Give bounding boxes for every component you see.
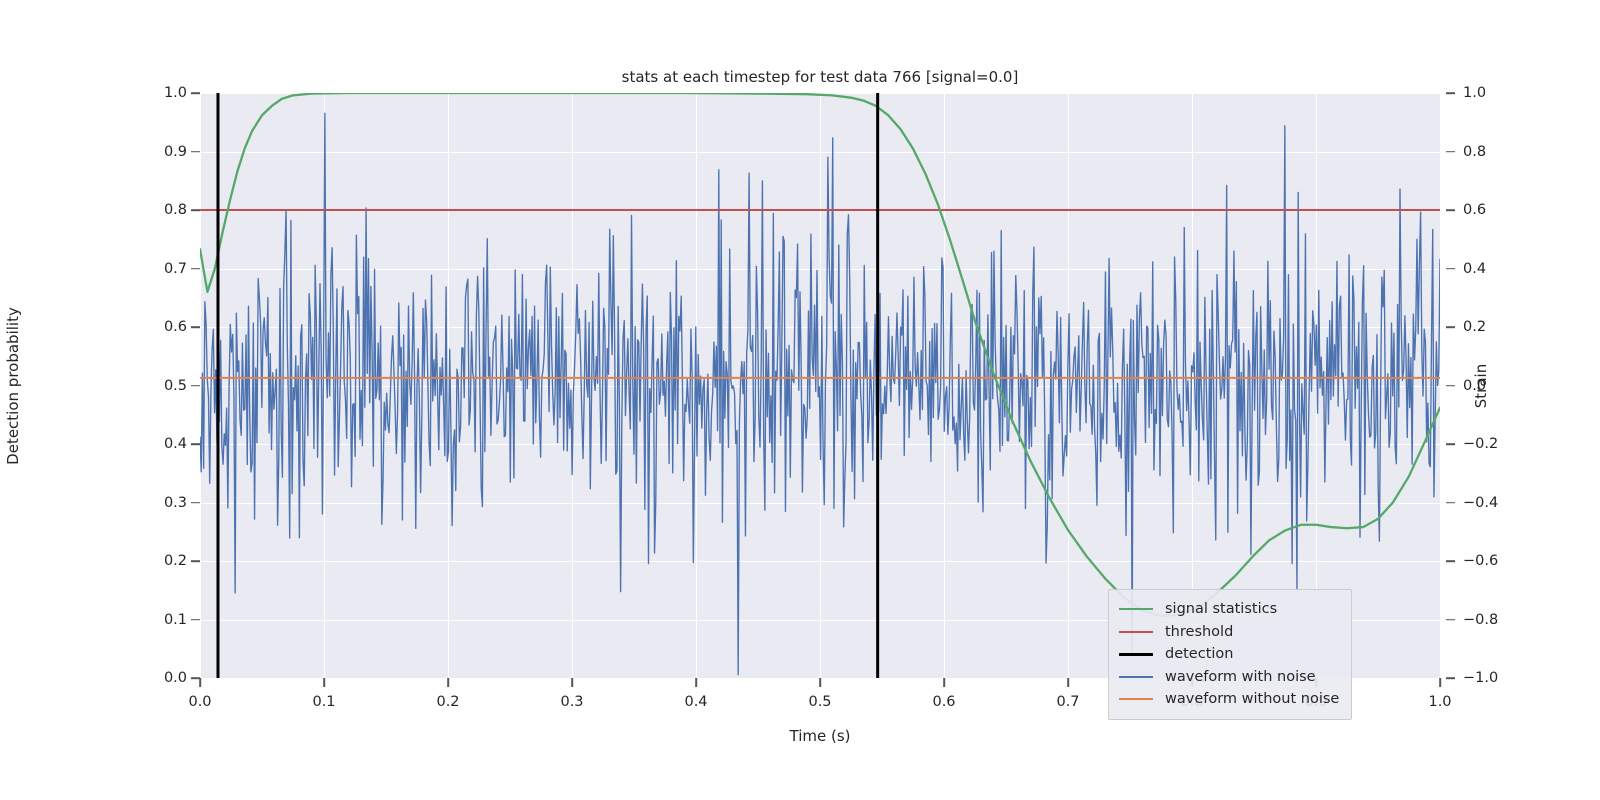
x-axis-tick-mark bbox=[1067, 678, 1069, 687]
y-axis-left-tick-mark bbox=[191, 326, 200, 328]
x-axis-tick-label: 0.2 bbox=[436, 694, 459, 710]
y-axis-right-tick-mark bbox=[1446, 209, 1455, 211]
legend-item-label: signal statistics bbox=[1165, 601, 1277, 617]
x-axis-tick-label: 0.7 bbox=[1056, 694, 1079, 710]
y-axis-left-tick-label: 0.1 bbox=[164, 612, 187, 628]
y-axis-left-tick-mark bbox=[191, 151, 200, 153]
x-axis-tick-mark bbox=[323, 678, 325, 687]
x-axis-tick-mark bbox=[943, 678, 945, 687]
x-axis-tick-label: 0.1 bbox=[312, 694, 335, 710]
legend-item[interactable]: waveform with noise bbox=[1119, 666, 1339, 689]
y-axis-left-tick-label: 0.7 bbox=[164, 261, 187, 277]
x-axis-tick-label: 0.4 bbox=[684, 694, 707, 710]
y-axis-right-label: Strain bbox=[1468, 93, 1494, 678]
y-axis-right-tick-mark bbox=[1446, 92, 1455, 94]
x-axis-tick-mark bbox=[695, 678, 697, 687]
x-axis-label: Time (s) bbox=[200, 727, 1440, 745]
legend-item[interactable]: detection bbox=[1119, 643, 1339, 666]
legend-item[interactable]: signal statistics bbox=[1119, 598, 1339, 621]
legend-swatch-line-icon bbox=[1119, 676, 1153, 678]
legend-item[interactable]: waveform without noise bbox=[1119, 688, 1339, 711]
y-axis-right-tick-mark bbox=[1446, 502, 1455, 504]
y-axis-right-tick-mark bbox=[1446, 560, 1455, 562]
y-axis-left: 0.00.10.20.30.40.50.60.70.80.91.0 bbox=[0, 93, 200, 678]
y-axis-right-tick-mark bbox=[1446, 151, 1455, 153]
y-axis-left-tick-label: 0.0 bbox=[164, 670, 187, 686]
y-axis-left-tick-label: 1.0 bbox=[164, 85, 187, 101]
y-axis-left-tick-mark bbox=[191, 268, 200, 270]
x-axis-tick-label: 0.5 bbox=[808, 694, 831, 710]
y-axis-left-tick-mark bbox=[191, 92, 200, 94]
y-axis-left-tick-mark bbox=[191, 502, 200, 504]
x-axis-tick-label: 0.3 bbox=[560, 694, 583, 710]
legend-item-label: waveform without noise bbox=[1165, 691, 1339, 707]
y-axis-left-tick-mark bbox=[191, 443, 200, 445]
x-axis-tick-label: 0.0 bbox=[188, 694, 211, 710]
legend-swatch-line-icon bbox=[1119, 631, 1153, 633]
y-axis-left-tick-mark bbox=[191, 560, 200, 562]
legend-item-label: detection bbox=[1165, 646, 1233, 662]
legend-item-label: waveform with noise bbox=[1165, 669, 1316, 685]
x-axis-tick-mark bbox=[819, 678, 821, 687]
y-axis-left-tick-label: 0.4 bbox=[164, 436, 187, 452]
y-axis-left-tick-label: 0.6 bbox=[164, 319, 187, 335]
legend-item-label: threshold bbox=[1165, 624, 1233, 640]
y-axis-right-tick-mark bbox=[1446, 619, 1455, 621]
legend-swatch-line-icon bbox=[1119, 653, 1153, 656]
y-axis-left-tick-mark bbox=[191, 619, 200, 621]
y-axis-left-tick-label: 0.8 bbox=[164, 202, 187, 218]
y-axis-left-tick-label: 0.2 bbox=[164, 553, 187, 569]
y-axis-left-tick-label: 0.5 bbox=[164, 378, 187, 394]
y-axis-left-tick-mark bbox=[191, 209, 200, 211]
y-axis-left-tick-label: 0.9 bbox=[164, 144, 187, 160]
chart-title: stats at each timestep for test data 766… bbox=[200, 68, 1440, 86]
x-axis-tick-mark bbox=[199, 678, 201, 687]
y-axis-right-tick-mark bbox=[1446, 443, 1455, 445]
y-axis-right-tick-mark bbox=[1446, 677, 1455, 679]
x-axis-tick-mark bbox=[571, 678, 573, 687]
x-axis-tick-mark bbox=[447, 678, 449, 687]
legend-swatch-line-icon bbox=[1119, 698, 1153, 700]
figure: stats at each timestep for test data 766… bbox=[0, 0, 1600, 800]
legend[interactable]: signal statisticsthresholddetectionwavef… bbox=[1108, 589, 1352, 720]
legend-swatch-line-icon bbox=[1119, 608, 1153, 610]
y-axis-left-tick-label: 0.3 bbox=[164, 495, 187, 511]
x-axis-tick-label: 1.0 bbox=[1428, 694, 1451, 710]
x-axis-tick-label: 0.6 bbox=[932, 694, 955, 710]
y-axis-right-tick-mark bbox=[1446, 268, 1455, 270]
x-axis-tick-mark bbox=[1439, 678, 1441, 687]
legend-item[interactable]: threshold bbox=[1119, 621, 1339, 644]
y-axis-right-label-text: Strain bbox=[1472, 363, 1490, 407]
y-axis-right-tick-mark bbox=[1446, 326, 1455, 328]
y-axis-right-tick-mark bbox=[1446, 385, 1455, 387]
y-axis-left-tick-mark bbox=[191, 385, 200, 387]
y-axis-right: −1.0−0.8−0.6−0.4−0.20.00.20.40.60.81.0 bbox=[1440, 93, 1600, 678]
